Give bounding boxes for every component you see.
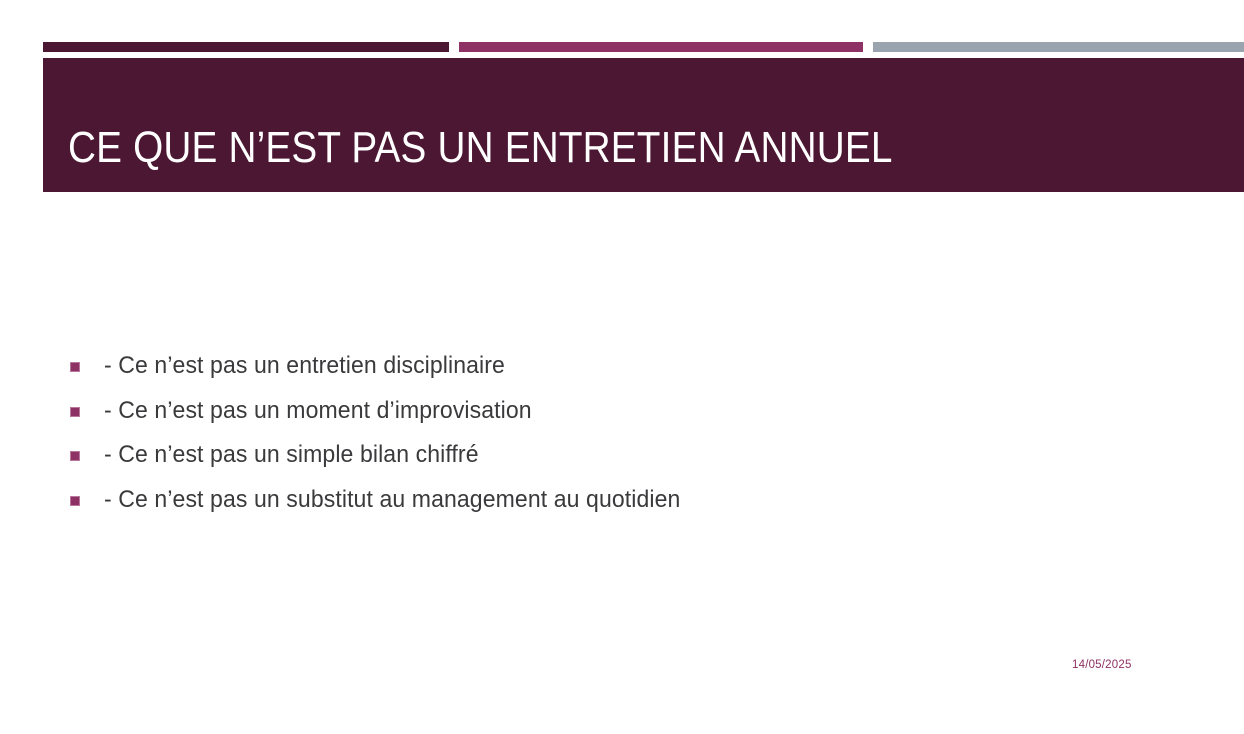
accent-segment-slate-gray: [873, 42, 1244, 52]
list-item: - Ce n’est pas un substitut au managemen…: [70, 486, 1120, 531]
square-bullet-icon: [70, 362, 80, 372]
square-bullet-icon: [70, 407, 80, 417]
footer-date: 14/05/2025: [1072, 658, 1132, 672]
slide-title: CE QUE N’EST PAS UN ENTRETIEN ANNUEL: [68, 126, 893, 170]
list-item: - Ce n’est pas un entretien disciplinair…: [70, 352, 1120, 397]
list-item-label: - Ce n’est pas un simple bilan chiffré: [104, 441, 479, 469]
list-item: - Ce n’est pas un simple bilan chiffré: [70, 441, 1120, 486]
bullet-list: - Ce n’est pas un entretien disciplinair…: [70, 352, 1120, 531]
list-item: - Ce n’est pas un moment d’improvisation: [70, 397, 1120, 442]
list-item-label: - Ce n’est pas un moment d’improvisation: [104, 397, 532, 425]
accent-segment-dark-plum: [43, 42, 449, 52]
square-bullet-icon: [70, 451, 80, 461]
list-item-label: - Ce n’est pas un entretien disciplinair…: [104, 352, 505, 380]
title-band: CE QUE N’EST PAS UN ENTRETIEN ANNUEL: [43, 58, 1244, 192]
square-bullet-icon: [70, 496, 80, 506]
top-accent-bar: [43, 42, 1244, 52]
slide-canvas: CE QUE N’EST PAS UN ENTRETIEN ANNUEL - C…: [0, 0, 1244, 734]
accent-segment-magenta: [459, 42, 863, 52]
list-item-label: - Ce n’est pas un substitut au managemen…: [104, 486, 680, 514]
